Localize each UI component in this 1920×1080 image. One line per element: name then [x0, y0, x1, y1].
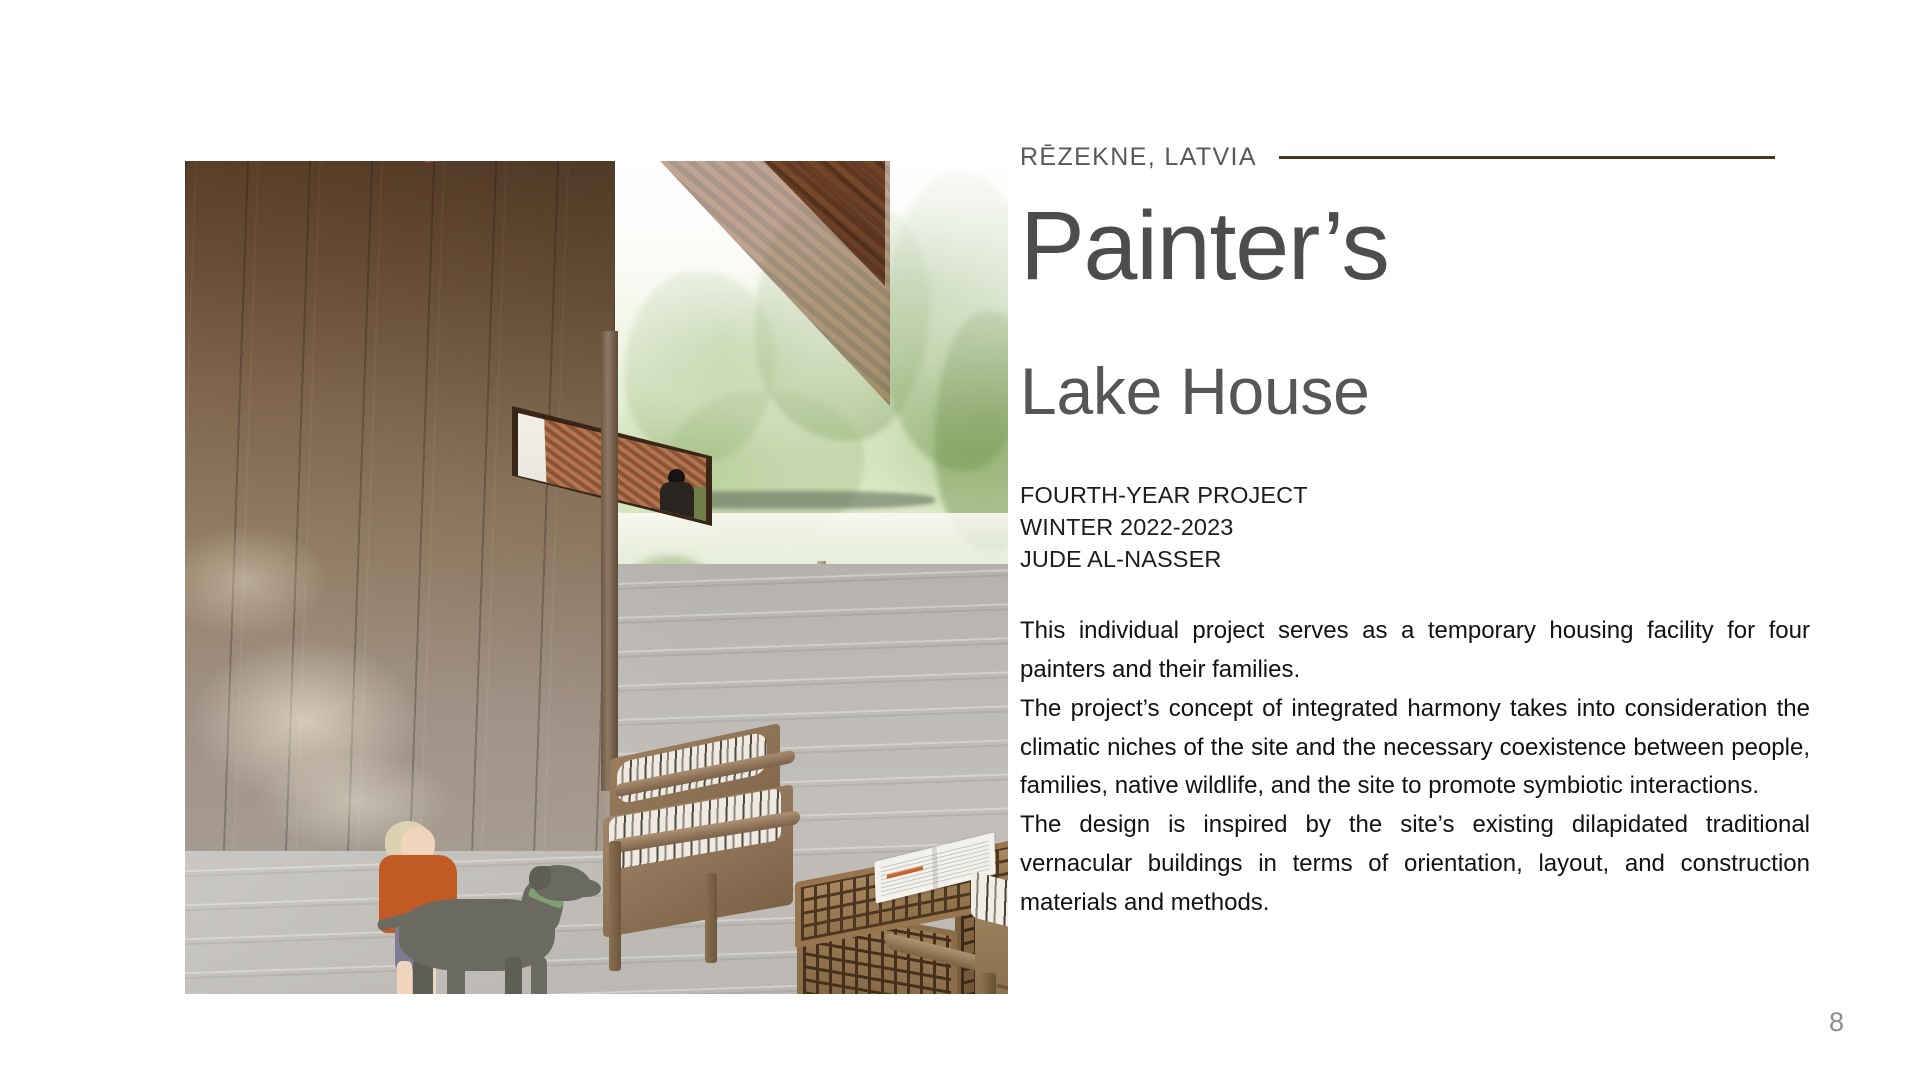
- slide: RĒZEKNE, LATVIA Painter’s Lake House FOU…: [0, 0, 1920, 1080]
- metadata-line-author: JUDE AL-NASSER: [1020, 544, 1830, 576]
- bench-slats: [997, 974, 1008, 994]
- wall-light-shadow: [185, 161, 615, 851]
- chair-leg: [705, 873, 717, 963]
- text-column: RĒZEKNE, LATVIA Painter’s Lake House FOU…: [1020, 140, 1830, 923]
- location-label: RĒZEKNE, LATVIA: [1020, 143, 1257, 172]
- porch-post: [601, 331, 618, 791]
- page-number: 8: [1829, 1007, 1844, 1038]
- dog-leg: [531, 957, 547, 994]
- magazine-accent: [887, 866, 923, 879]
- bench-leg: [981, 973, 996, 994]
- project-render-image: [185, 161, 1008, 994]
- dog-muzzle: [569, 879, 601, 897]
- header-rule: [1279, 156, 1775, 159]
- dog-leg: [505, 957, 522, 994]
- metadata-line-term: WINTER 2022-2023: [1020, 512, 1830, 544]
- description-paragraph-1: This individual project serves as a temp…: [1020, 612, 1810, 690]
- dog-figure: [381, 861, 601, 994]
- metadata-line-project: FOURTH-YEAR PROJECT: [1020, 480, 1830, 512]
- project-description: This individual project serves as a temp…: [1020, 612, 1810, 923]
- page-subtitle: Lake House: [1020, 358, 1830, 425]
- location-row: RĒZEKNE, LATVIA: [1020, 140, 1830, 174]
- description-paragraph-2: The project’s concept of integrated harm…: [1020, 690, 1810, 807]
- description-paragraph-3: The design is inspired by the site’s exi…: [1020, 806, 1810, 923]
- page-title: Painter’s: [1020, 198, 1830, 293]
- dog-ear: [529, 866, 551, 890]
- render-canvas: [185, 161, 1008, 994]
- project-metadata: FOURTH-YEAR PROJECT WINTER 2022-2023 JUD…: [1020, 480, 1830, 576]
- chair-leg: [609, 841, 621, 971]
